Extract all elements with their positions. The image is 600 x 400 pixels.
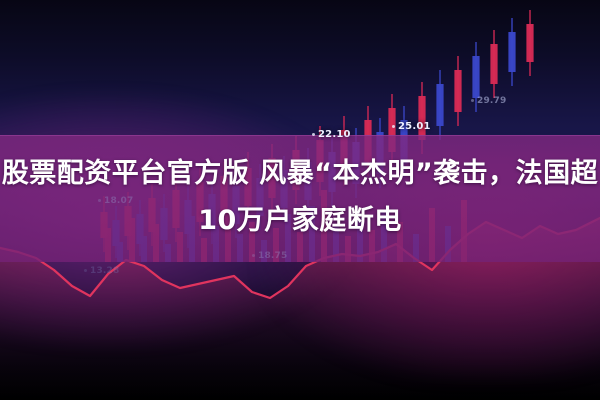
price-label-text: 18.75 <box>258 251 287 261</box>
candle-body <box>508 32 515 72</box>
price-label: 29.79 <box>471 96 506 106</box>
headline-band-top-edge <box>0 135 600 136</box>
price-label-text: 29.79 <box>477 96 506 106</box>
headline-line-2: 10万户家庭断电 <box>0 197 600 244</box>
price-label-dot <box>392 125 395 128</box>
price-label-dot <box>252 254 255 257</box>
price-label: 22.10 <box>312 129 351 140</box>
price-label: 25.01 <box>392 121 431 132</box>
candle-body <box>472 56 479 98</box>
price-label: 13.28 <box>84 266 119 276</box>
price-label-text: 25.01 <box>398 121 431 132</box>
candle-body <box>490 44 497 84</box>
price-label-text: 13.28 <box>90 266 119 276</box>
page-title: 股票配资平台官方版 风暴“本杰明”袭击，法国超 10万户家庭断电 <box>0 150 600 244</box>
price-label-dot <box>312 133 315 136</box>
price-label-text: 22.10 <box>318 129 351 140</box>
candle-body <box>436 84 443 126</box>
candle-body <box>526 24 533 62</box>
stock-news-banner: 22.1025.0129.7918.0718.7513.28 股票配资平台官方版… <box>0 0 600 400</box>
headline-line-1: 股票配资平台官方版 风暴“本杰明”袭击，法国超 <box>0 150 600 197</box>
price-label: 18.75 <box>252 251 287 261</box>
candle-body <box>418 96 425 140</box>
candle-body <box>454 70 461 112</box>
price-label-dot <box>471 99 474 102</box>
price-label-dot <box>84 269 87 272</box>
